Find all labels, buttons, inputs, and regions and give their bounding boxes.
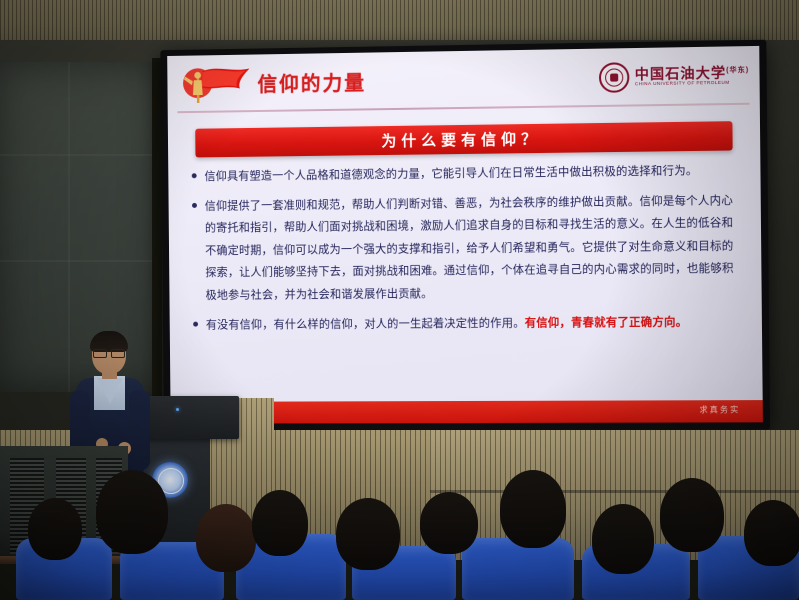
footer-stamp: 求真务实 [699, 404, 740, 415]
section-banner: 为什么要有信仰？ [195, 121, 732, 157]
slide-header: 信仰的力量 中国石油大学(华东) CHINA UNIVERSITY OF PET… [167, 46, 760, 111]
audience-head [500, 470, 566, 548]
university-name-suffix: (华东) [726, 67, 749, 74]
audience-head [252, 490, 308, 556]
university-logo: 中国石油大学(华东) CHINA UNIVERSITY OF PETROLEUM [599, 55, 749, 98]
presentation-slide: 信仰的力量 中国石油大学(华东) CHINA UNIVERSITY OF PET… [167, 46, 763, 424]
slide-title: 信仰的力量 [257, 67, 366, 98]
bullet-text-plain: 有没有信仰，有什么样的信仰，对人的一生起着决定性的作用。 [206, 317, 525, 331]
bullet-text: 信仰提供了一套准则和规范，帮助人们判断对错、善恶，为社会秩序的维护做出贡献。信仰… [205, 189, 745, 307]
audience-head [28, 498, 82, 560]
list-item: 信仰提供了一套准则和规范，帮助人们判断对错、善恶，为社会秩序的维护做出贡献。信仰… [188, 189, 744, 307]
bullet-dot-icon [192, 173, 197, 178]
bullet-text: 有没有信仰，有什么样的信仰，对人的一生起着决定性的作用。有信仰，青春就有了正确方… [206, 311, 745, 337]
glasses-icon [93, 349, 125, 356]
audience-head [196, 504, 256, 572]
slide-body: 信仰具有塑造一个人品格和道德观念的力量，它能引导人们在日常生活中做出积极的选择和… [188, 159, 745, 343]
audience-head [96, 470, 168, 554]
university-seal-icon [599, 62, 630, 93]
bullet-dot-icon [192, 203, 197, 208]
university-name-en: CHINA UNIVERSITY OF PETROLEUM [635, 80, 750, 87]
list-item: 信仰具有塑造一个人品格和道德观念的力量，它能引导人们在日常生活中做出积极的选择和… [188, 159, 743, 188]
audience-head [420, 492, 478, 554]
audience-head [660, 478, 724, 552]
projection-screen: 信仰的力量 中国石油大学(华东) CHINA UNIVERSITY OF PET… [160, 40, 770, 431]
audience-head [744, 500, 799, 566]
section-banner-text: 为什么要有信仰？ [381, 128, 541, 151]
audience-head [592, 504, 654, 574]
audience [0, 482, 799, 600]
lecture-hall-photo: 信仰的力量 中国石油大学(华东) CHINA UNIVERSITY OF PET… [0, 0, 799, 600]
red-flag-figure-icon [181, 63, 252, 106]
bullet-text: 信仰具有塑造一个人品格和道德观念的力量，它能引导人们在日常生活中做出积极的选择和… [204, 159, 743, 188]
bullet-dot-icon [193, 321, 198, 326]
list-item: 有没有信仰，有什么样的信仰，对人的一生起着决定性的作用。有信仰，青春就有了正确方… [189, 311, 744, 337]
bullet-text-emphasis: 有信仰，青春就有了正确方向。 [525, 316, 688, 329]
monitor-led-icon [176, 408, 179, 411]
audience-head [336, 498, 400, 570]
seat [462, 538, 574, 600]
